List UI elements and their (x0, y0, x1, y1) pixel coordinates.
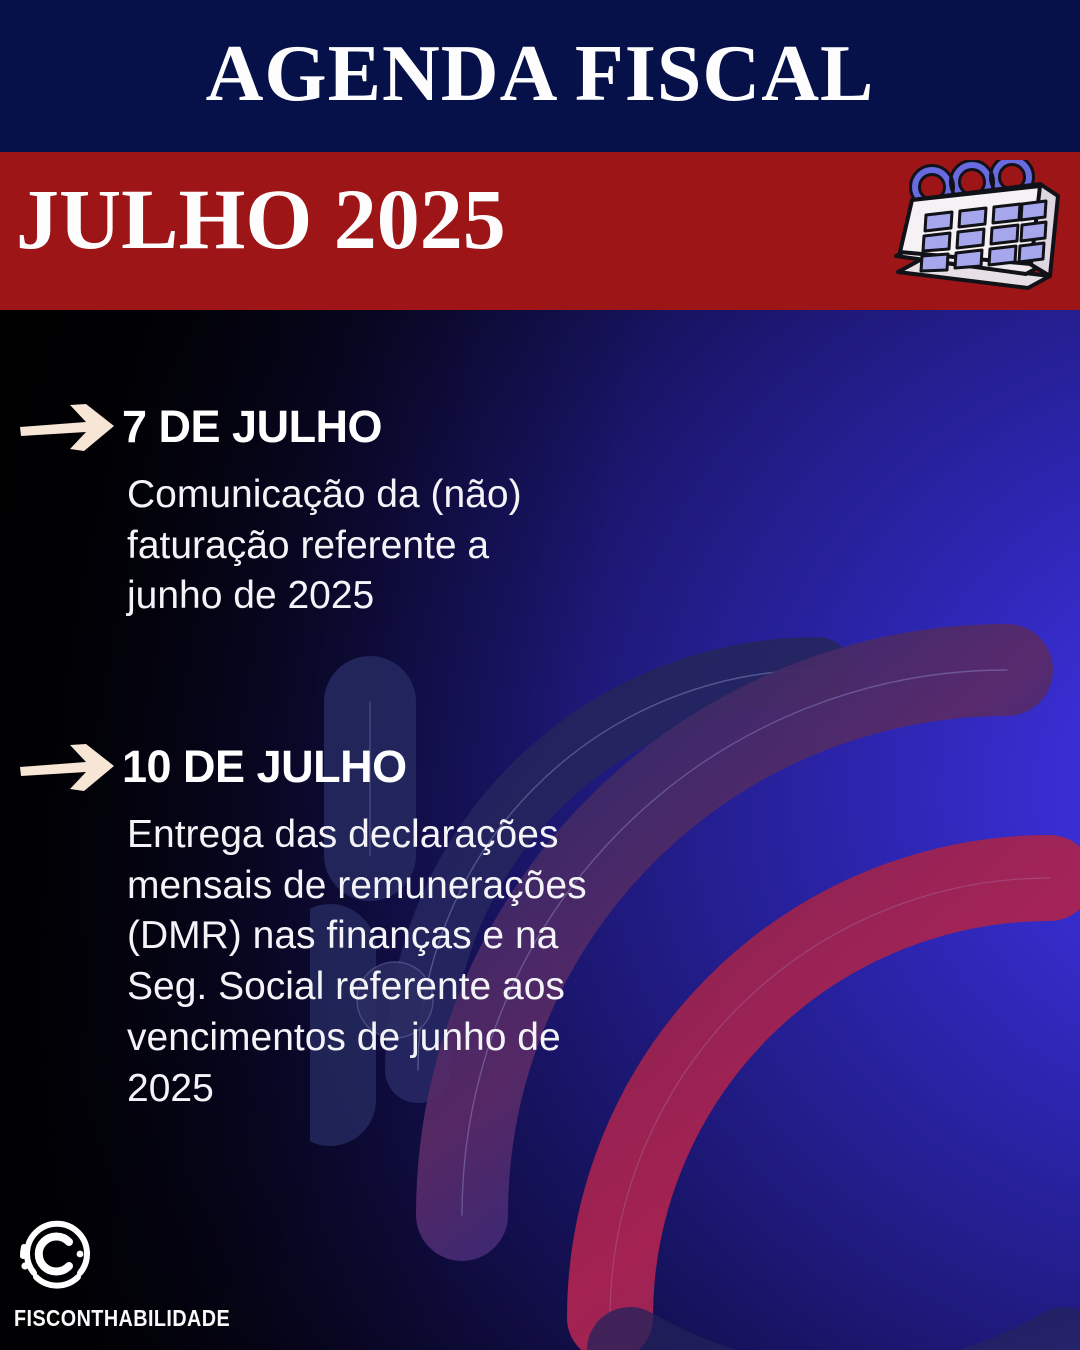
page-title: AGENDA FISCAL (206, 34, 875, 118)
agenda-entries: 7 DE JULHO Comunicação da (não) faturaçã… (0, 310, 700, 1114)
arrow-right-icon (14, 400, 122, 456)
calendar-icon (890, 160, 1062, 306)
agenda-entry-description: Comunicação da (não) faturação referente… (127, 470, 637, 622)
agenda-entry: 10 DE JULHO Entrega das declarações mens… (0, 740, 700, 1114)
arrow-right-icon (14, 740, 122, 796)
agenda-entry: 7 DE JULHO Comunicação da (não) faturaçã… (0, 400, 700, 622)
header-band: AGENDA FISCAL (0, 0, 1080, 152)
agenda-entry-header: 10 DE JULHO (0, 740, 700, 796)
fisconthabilidade-c-monogram-icon (14, 1211, 314, 1297)
agenda-entry-header: 7 DE JULHO (0, 400, 700, 456)
brand-name: FISCONTHABILIDADE (14, 1305, 272, 1332)
poster-root: AGENDA FISCAL JULHO 2025 (0, 0, 1080, 1350)
agenda-entry-date: 7 DE JULHO (122, 404, 382, 452)
month-band: JULHO 2025 (0, 152, 1080, 310)
brand-block: FISCONTHABILIDADE (14, 1193, 314, 1332)
agenda-entry-description: Entrega das declarações mensais de remun… (127, 810, 637, 1114)
agenda-entry-date: 10 DE JULHO (122, 744, 407, 792)
month-title: JULHO 2025 (16, 170, 506, 269)
